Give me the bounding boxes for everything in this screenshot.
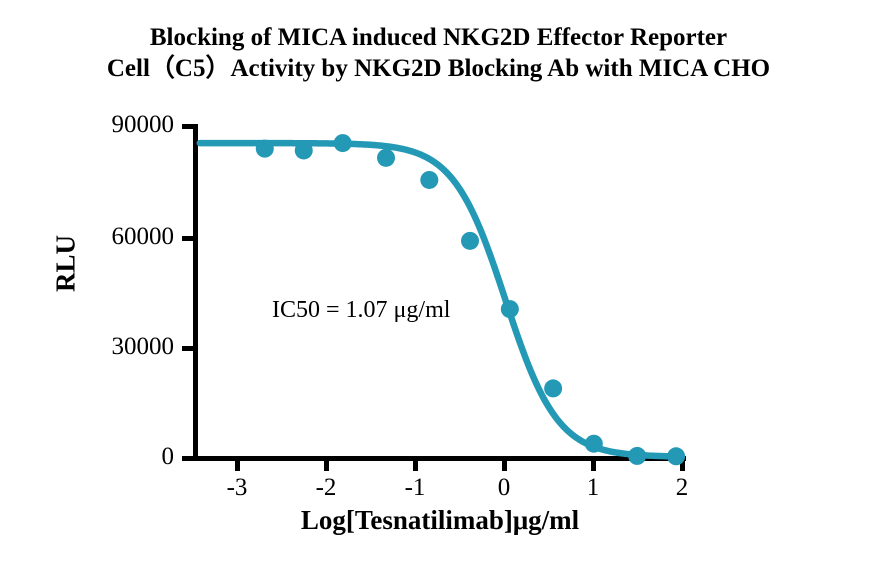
data-point xyxy=(501,300,519,318)
data-point xyxy=(628,447,646,465)
chart-root: Blocking of MICA induced NKG2D Effector … xyxy=(0,0,877,571)
x-tick-label-0: 0 xyxy=(474,474,534,502)
x-tick-label-minus3: -3 xyxy=(207,474,267,502)
ic50-annotation: IC50 = 1.07 μg/ml xyxy=(272,297,450,324)
data-point xyxy=(461,232,479,250)
y-tick-label-90000: 90000 xyxy=(48,111,174,139)
y-axis-title: RLU xyxy=(51,184,82,344)
y-tick-label-0: 0 xyxy=(48,443,174,471)
x-axis-title: Log[Tesnatilimab]μg/ml xyxy=(195,505,685,536)
data-point xyxy=(377,149,395,167)
data-point xyxy=(420,171,438,189)
x-tick-label-2: 2 xyxy=(652,474,712,502)
x-tick-label-1: 1 xyxy=(563,474,623,502)
data-point xyxy=(585,435,603,453)
data-point xyxy=(667,447,685,465)
x-tick-label-minus1: -1 xyxy=(385,474,445,502)
data-point xyxy=(334,134,352,152)
data-point xyxy=(295,141,313,159)
data-point xyxy=(256,140,274,158)
data-point xyxy=(544,379,562,397)
x-tick-label-minus2: -2 xyxy=(296,474,356,502)
